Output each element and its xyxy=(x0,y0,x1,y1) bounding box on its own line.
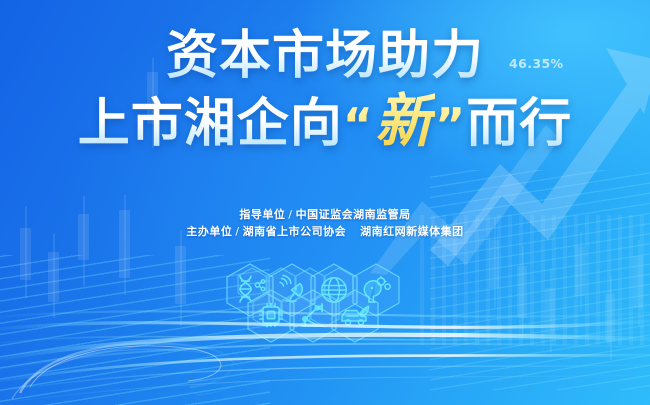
guidance-value: 中国证监会湖南监管局 xyxy=(296,208,411,221)
title-line-2-suffix: 而行 xyxy=(466,94,572,154)
organizer-credits: 指导单位/中国证监会湖南监管局 主办单位/湖南省上市公司协会湖南红网新媒体集团 xyxy=(0,206,650,240)
poster-title: 资本市场助力 上市湘企向“新”而行 xyxy=(0,30,650,150)
title-line-2-prefix: 上市湘企向 xyxy=(78,94,343,154)
guidance-label: 指导单位 xyxy=(239,208,285,221)
microchip-icon xyxy=(260,304,283,327)
title-line-1-text: 资本市场助力 xyxy=(166,26,484,86)
credit-line-guidance: 指导单位/中国证监会湖南监管局 xyxy=(0,206,650,223)
quote-close: ” xyxy=(435,98,466,152)
credit-line-host: 主办单位/湖南省上市公司协会湖南红网新媒体集团 xyxy=(0,223,650,240)
quote-open: “ xyxy=(343,98,374,152)
host-value-2: 湖南红网新媒体集团 xyxy=(360,225,464,238)
title-line-2: 上市湘企向“新”而行 xyxy=(0,92,650,150)
host-separator: / xyxy=(232,225,242,238)
guidance-separator: / xyxy=(285,208,295,221)
host-value-1: 湖南省上市公司协会 xyxy=(243,225,347,238)
hex-row-bottom xyxy=(248,290,378,342)
title-line-1: 资本市场助力 xyxy=(0,30,650,82)
host-label: 主办单位 xyxy=(186,225,232,238)
tech-icon-hex-cluster xyxy=(0,262,650,362)
poster-canvas: 46.35% 资本市场助力 上市湘企向“新”而行 指导单位/中国证监会湖南监管局… xyxy=(0,0,650,405)
title-highlight-char: 新 xyxy=(374,87,435,155)
